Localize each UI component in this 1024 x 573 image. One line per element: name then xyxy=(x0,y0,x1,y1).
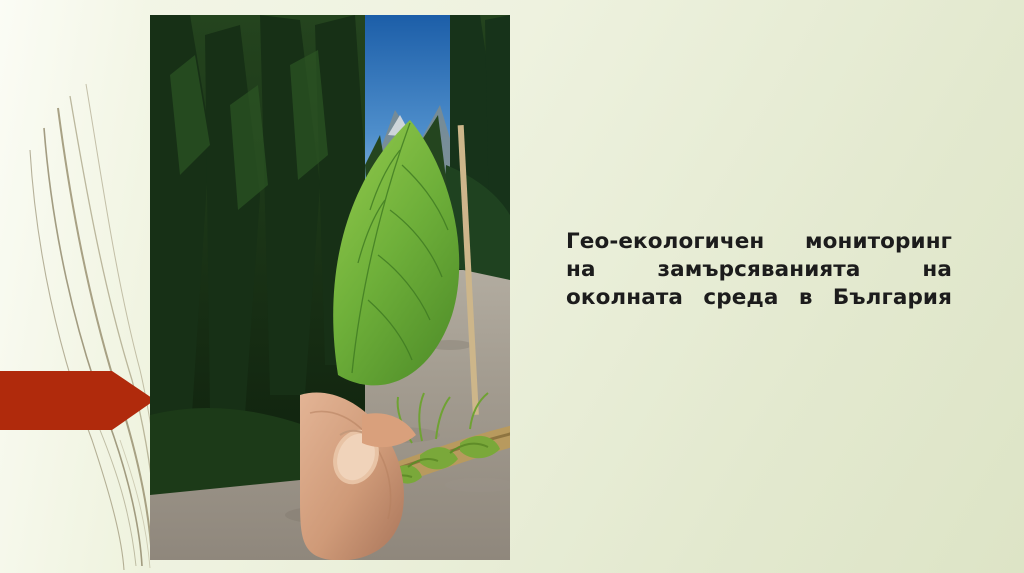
left-decorative-panel xyxy=(0,0,150,573)
page-title: Гео-екологичен мониторинг на замърсявани… xyxy=(566,228,952,340)
leaf-sailboat-photo xyxy=(150,15,510,560)
presentation-slide: Гео-екологичен мониторинг на замърсявани… xyxy=(0,0,1024,573)
slide-image xyxy=(150,15,510,560)
slide-title-block: Гео-екологичен мониторинг на замърсявани… xyxy=(566,228,952,340)
